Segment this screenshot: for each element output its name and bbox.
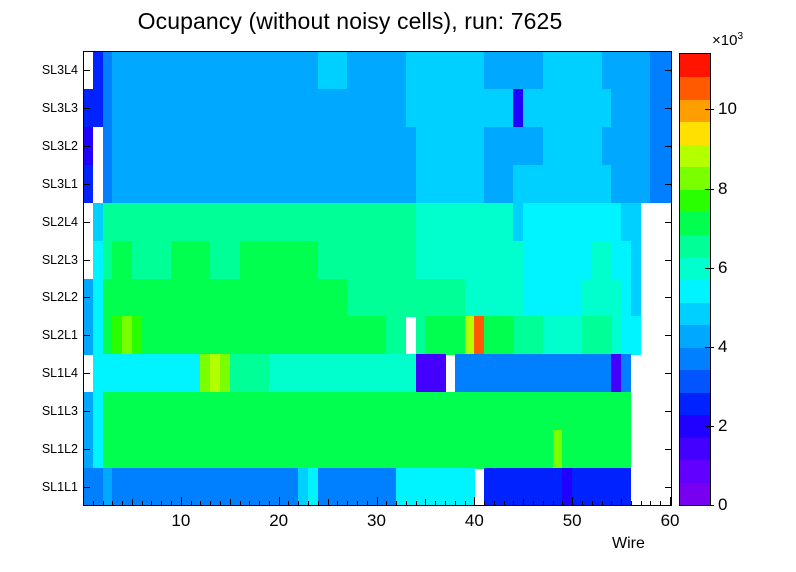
color-scale-tick	[705, 426, 714, 427]
color-scale-band	[680, 370, 710, 393]
heatmap-cell	[631, 316, 641, 355]
y-axis-tick-label-sl3l2: SL3L2	[42, 139, 78, 153]
x-axis-tick	[132, 499, 133, 506]
y-axis-tick-label-sl3l4: SL3L4	[42, 63, 78, 77]
y-axis-tick	[83, 70, 90, 71]
x-axis-tick	[543, 501, 544, 506]
x-axis-tick	[416, 501, 417, 506]
y-axis-tick	[83, 260, 90, 261]
heatmap-cell	[621, 354, 631, 393]
heatmap-plot-frame	[83, 51, 672, 506]
color-scale-tick-label-0: 0	[718, 495, 727, 515]
color-scale-band	[680, 280, 710, 303]
heatmap-cell	[435, 354, 445, 393]
y-axis-tick	[83, 108, 90, 109]
y-axis-tick	[83, 373, 90, 374]
x-axis-tick	[230, 499, 231, 506]
y-axis-tick	[83, 411, 90, 412]
y-axis-tick	[83, 335, 90, 336]
x-axis-tick	[151, 501, 152, 506]
heatmap-cell	[621, 430, 631, 469]
heatmap-cell	[631, 203, 641, 242]
x-axis-tick	[455, 501, 456, 506]
y-axis-tick	[665, 260, 672, 261]
color-scale-tick	[705, 347, 714, 348]
heatmap-cell	[621, 392, 631, 431]
color-scale-band	[680, 122, 710, 145]
color-scale-tick	[705, 109, 714, 110]
y-axis-tick	[665, 411, 672, 412]
x-axis-tick	[592, 501, 593, 506]
color-scale-band	[680, 99, 710, 122]
x-axis-tick	[553, 501, 554, 506]
y-axis-tick-label-sl3l3: SL3L3	[42, 101, 78, 115]
color-scale-tick-label-6: 6	[718, 258, 727, 278]
color-scale-tick-label-8: 8	[718, 179, 727, 199]
color-scale-band	[680, 460, 710, 483]
x-axis-tick	[220, 501, 221, 506]
x-axis-tick	[631, 501, 632, 506]
x-axis-tick	[621, 499, 622, 506]
y-axis-tick	[83, 222, 90, 223]
x-axis-tick	[435, 501, 436, 506]
x-axis-tick-label-20: 20	[269, 511, 288, 531]
y-axis-tick	[665, 146, 672, 147]
color-scale-tick-label-4: 4	[718, 337, 727, 357]
color-scale-tick	[705, 268, 714, 269]
color-scale-band	[680, 189, 710, 212]
color-scale-band	[680, 77, 710, 100]
y-axis-tick	[665, 184, 672, 185]
x-axis-tick	[504, 501, 505, 506]
x-axis-tick	[240, 501, 241, 506]
color-scale-bar	[679, 53, 711, 506]
x-axis-tick	[122, 501, 123, 506]
x-axis-tick	[112, 501, 113, 506]
y-axis-labels: SL3L4SL3L3SL3L2SL3L1SL2L4SL2L3SL2L2SL2L1…	[0, 51, 78, 506]
x-axis-tick	[142, 501, 143, 506]
z-axis-multiplier: ×103	[712, 31, 743, 49]
y-axis-tick	[665, 222, 672, 223]
y-axis-tick	[665, 70, 672, 71]
y-axis-tick	[665, 108, 672, 109]
x-axis-tick	[318, 501, 319, 506]
x-axis-tick	[377, 497, 378, 506]
x-axis-tick	[200, 501, 201, 506]
x-axis-tick	[171, 501, 172, 506]
x-axis-tick	[279, 497, 280, 506]
x-axis-tick	[347, 501, 348, 506]
y-axis-tick-label-sl1l4: SL1L4	[42, 366, 78, 380]
x-axis-tick	[269, 501, 270, 506]
x-axis-tick	[494, 501, 495, 506]
y-axis-tick-label-sl2l1: SL2L1	[42, 328, 78, 342]
y-axis-tick	[83, 449, 90, 450]
y-axis-tick-label-sl1l1: SL1L1	[42, 480, 78, 494]
x-axis-tick	[328, 499, 329, 506]
x-axis-tick	[474, 497, 475, 506]
x-axis-tick-label-40: 40	[465, 511, 484, 531]
x-axis-tick	[406, 501, 407, 506]
y-axis-tick-label-sl1l2: SL1L2	[42, 442, 78, 456]
x-axis-tick	[641, 501, 642, 506]
color-scale-band	[680, 437, 710, 460]
x-axis-tick	[611, 501, 612, 506]
color-scale-band	[680, 212, 710, 235]
x-axis-tick	[484, 501, 485, 506]
color-scale-tick	[705, 189, 714, 190]
x-axis-tick	[465, 501, 466, 506]
x-axis-tick-label-60: 60	[661, 511, 680, 531]
x-axis-tick	[93, 501, 94, 506]
y-axis-tick	[665, 449, 672, 450]
x-axis-tick	[288, 501, 289, 506]
color-scale-band	[680, 54, 710, 77]
y-axis-tick	[83, 297, 90, 298]
x-axis-tick	[523, 499, 524, 506]
y-axis-tick	[665, 335, 672, 336]
x-axis-tick	[357, 501, 358, 506]
x-axis-tick	[572, 497, 573, 506]
y-axis-tick	[83, 487, 90, 488]
y-axis-tick	[665, 297, 672, 298]
x-axis-tick	[513, 501, 514, 506]
x-axis-tick	[660, 501, 661, 506]
x-axis-tick	[533, 501, 534, 506]
color-scale-band	[680, 392, 710, 415]
y-axis-tick	[83, 146, 90, 147]
x-axis-tick	[425, 499, 426, 506]
y-axis-tick	[665, 373, 672, 374]
x-axis-tick	[161, 501, 162, 506]
color-scale-band	[680, 482, 710, 505]
y-axis-tick	[665, 487, 672, 488]
heatmap-cells	[84, 52, 671, 505]
x-axis-tick	[308, 501, 309, 506]
color-scale-band	[680, 144, 710, 167]
heatmap-cell	[631, 241, 641, 280]
x-axis-tick	[396, 501, 397, 506]
page-title: Ocupancy (without noisy cells), run: 762…	[0, 8, 700, 35]
color-scale-band	[680, 234, 710, 257]
y-axis-tick-label-sl1l3: SL1L3	[42, 404, 78, 418]
x-axis-tick	[181, 497, 182, 506]
x-axis-tick-label-30: 30	[367, 511, 386, 531]
x-axis-tick	[582, 501, 583, 506]
z-axis-multiplier-exponent: 3	[737, 31, 743, 42]
color-scale-tick-label-10: 10	[718, 99, 737, 119]
y-axis-tick-label-sl3l1: SL3L1	[42, 177, 78, 191]
x-axis-tick	[249, 501, 250, 506]
y-axis-tick-label-sl2l2: SL2L2	[42, 290, 78, 304]
x-axis-tick	[103, 501, 104, 506]
heatmap-cell	[396, 316, 406, 355]
x-axis-tick	[670, 497, 671, 506]
x-axis-title: Wire	[612, 535, 645, 553]
x-axis-tick	[650, 501, 651, 506]
x-axis-tick	[386, 501, 387, 506]
color-scale-band	[680, 302, 710, 325]
color-scale-band	[680, 325, 710, 348]
color-scale-tick-label-2: 2	[718, 416, 727, 436]
color-scale-tick	[705, 505, 714, 506]
color-scale-band	[680, 347, 710, 370]
x-axis-tick-label-10: 10	[171, 511, 190, 531]
x-axis-tick	[562, 501, 563, 506]
x-axis-tick	[445, 501, 446, 506]
x-axis-tick	[337, 501, 338, 506]
x-axis-tick	[367, 501, 368, 506]
x-axis-tick	[602, 501, 603, 506]
heatmap-cell	[631, 279, 641, 318]
x-axis-tick-label-50: 50	[563, 511, 582, 531]
color-scale-band	[680, 167, 710, 190]
x-axis-tick	[298, 501, 299, 506]
y-axis-tick-label-sl2l3: SL2L3	[42, 253, 78, 267]
y-axis-tick	[83, 184, 90, 185]
x-axis-tick	[210, 501, 211, 506]
y-axis-tick-label-sl2l4: SL2L4	[42, 215, 78, 229]
x-axis-tick	[191, 501, 192, 506]
x-axis-tick	[259, 501, 260, 506]
z-axis-multiplier-base: ×10	[712, 32, 737, 49]
heatmap-cell	[621, 468, 631, 505]
